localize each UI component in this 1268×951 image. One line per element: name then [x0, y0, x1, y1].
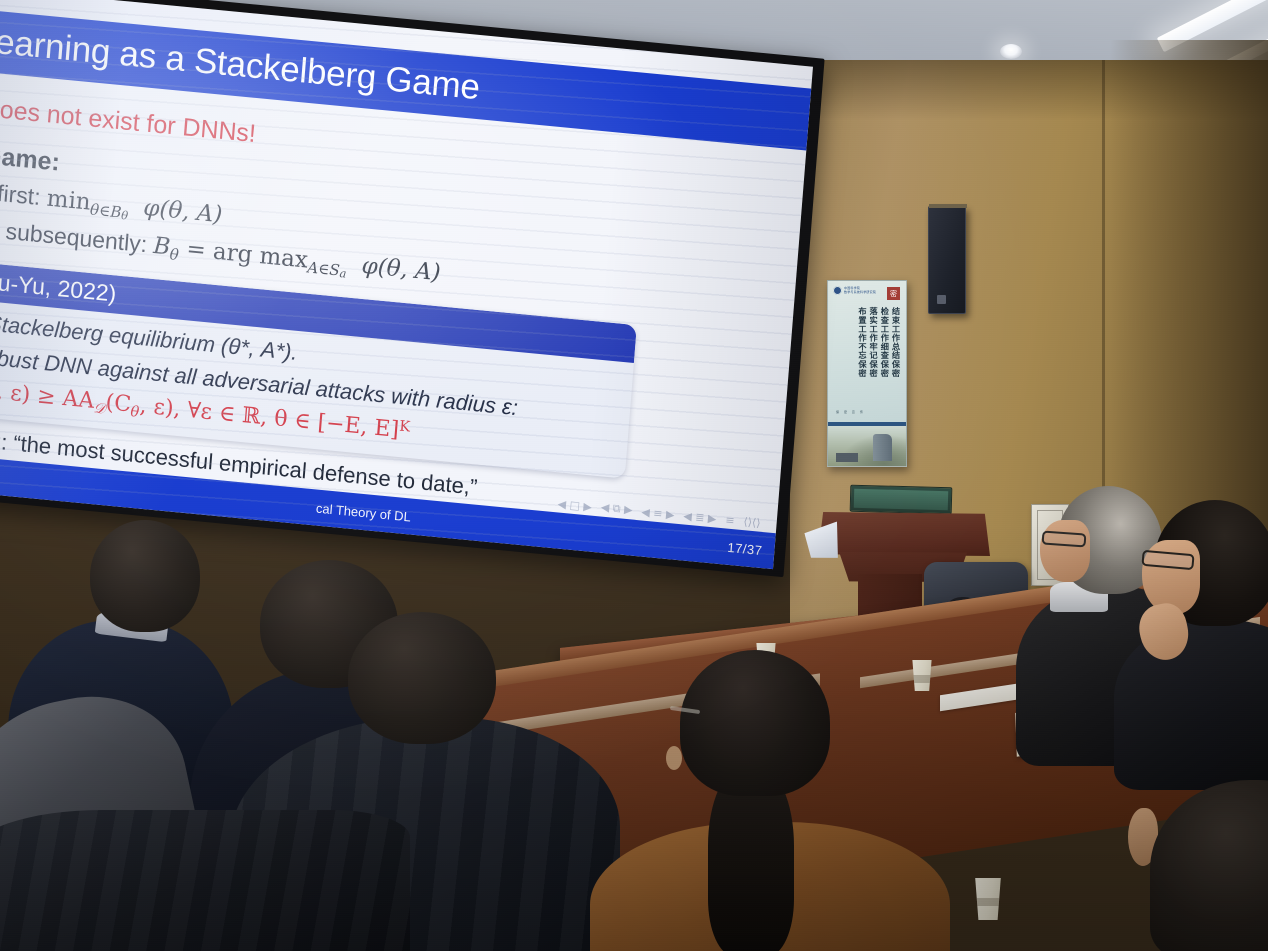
poster-column: 落实工作牢记保密 — [868, 307, 877, 433]
downlight-icon — [1000, 44, 1022, 59]
security-poster: 中国科学院 数学与系统科学研究院 密 结束工作总结保密 检查工作细查保密 落实工… — [827, 280, 907, 467]
projection-screen[interactable]: earning as a Stackelberg Game does not e… — [0, 0, 825, 577]
poster-column: 布置工作不忘保密 — [857, 307, 866, 433]
wall-seam — [1102, 60, 1105, 560]
glasses-icon — [1042, 530, 1087, 547]
formula-mid-2: (C — [105, 390, 132, 417]
speaker-bracket — [929, 204, 967, 208]
poster-org-line-2: 数学与系统科学研究院 — [844, 291, 876, 295]
screen-bezel: earning as a Stackelberg Game does not e… — [0, 0, 825, 577]
laptop-icon[interactable] — [850, 485, 953, 515]
laptop-screen — [854, 489, 948, 510]
poster-subtitle: 保 密 宣 传 — [836, 410, 865, 414]
formula-sup-K: K — [399, 418, 411, 435]
foreground-attendee-right — [1150, 780, 1268, 951]
poster-column: 检查工作细查保密 — [880, 307, 889, 433]
slide-surface: earning as a Stackelberg Game does not e… — [0, 0, 813, 569]
wall-shadow-top — [790, 60, 1268, 120]
math-argmax-operator: = arg max — [186, 236, 309, 273]
formula-sub-D: 𝒟 — [93, 400, 106, 417]
footer-talk-title: cal Theory of DL — [315, 500, 411, 524]
poster-logo: 中国科学院 数学与系统科学研究院 — [833, 286, 876, 295]
institute-seal-icon — [833, 286, 842, 295]
poster-stamp-icon: 密 — [887, 287, 900, 300]
formula-mid: , ε) ≥ AA — [0, 379, 95, 413]
poster-building-icon — [836, 453, 858, 462]
poster-building-icon — [873, 434, 892, 461]
paper-cup-icon — [972, 878, 1004, 920]
math-min-subscript: θ∈B — [89, 201, 122, 222]
seated-attendee-young — [1140, 500, 1268, 780]
seated-attendee-woman — [620, 650, 920, 951]
nav-end-icon[interactable]: ⟨⟩⟨⟩ — [743, 515, 761, 530]
nav-subsec-icon[interactable]: ◀ ⧉ ▶ — [600, 501, 633, 518]
attendee-ear — [666, 746, 682, 770]
math-objective-1: φ(θ, A) — [142, 195, 223, 228]
nav-frame-icon[interactable]: ◀ □ ▶ — [557, 497, 592, 513]
foreground-coat-left — [0, 790, 400, 951]
attendee-head — [348, 612, 496, 744]
attendee-head — [680, 650, 830, 796]
podium-top — [818, 512, 990, 556]
slide-page-number: 17/37 — [727, 539, 763, 557]
math-argmax-subscript: A∈S — [307, 259, 341, 280]
poster-photo — [828, 426, 906, 466]
draped-coat — [0, 810, 410, 951]
attendee-face — [1040, 520, 1090, 582]
math-min-operator: min — [46, 186, 92, 216]
nav-doc-icon[interactable]: ◀ ≣ ▶ — [683, 509, 717, 525]
math-min-subsubscript: θ — [121, 208, 129, 223]
nav-section-icon[interactable]: ◀ ≡ ▶ — [641, 505, 675, 521]
math-objective-2: φ(θ, A) — [361, 253, 442, 286]
math-argmax-subsubscript: a — [339, 266, 347, 281]
room-photo-scene: 中国科学院 数学与系统科学研究院 密 结束工作总结保密 检查工作细查保密 落实工… — [0, 0, 1268, 951]
math-line-1-prefix: s first: — [0, 178, 42, 210]
poster-column: 结束工作总结保密 — [891, 307, 900, 433]
math-best-response-sub: θ — [169, 246, 180, 265]
nav-back-icon[interactable]: ≡ — [725, 513, 735, 527]
attendee-head — [90, 520, 200, 632]
poster-text-columns: 结束工作总结保密 检查工作细查保密 落实工作牢记保密 布置工作不忘保密 — [834, 307, 900, 433]
math-best-response: B — [152, 233, 171, 261]
attendee-head — [1150, 780, 1268, 951]
wall-speaker-icon — [928, 206, 966, 314]
speaker-badge-icon — [937, 295, 946, 304]
